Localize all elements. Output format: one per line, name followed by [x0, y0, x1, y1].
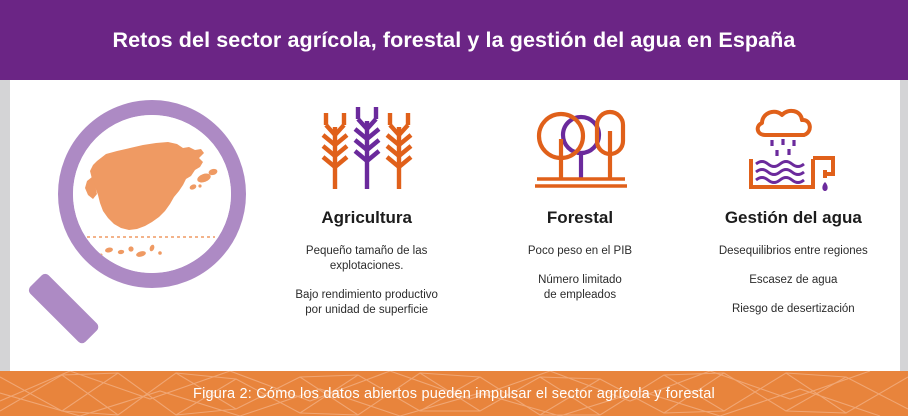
spain-map-icon [73, 115, 231, 273]
droplet-shape [823, 182, 828, 191]
magnifier-lens [73, 115, 231, 273]
water-tank-rain-icon [741, 102, 845, 194]
column-line: Número limitado de empleados [538, 273, 622, 303]
column-line: Escasez de agua [749, 273, 837, 288]
column-lines-gestion-del-agua: Desequilibrios entre regiones Escasez de… [719, 244, 868, 317]
column-agricultura: Agricultura Pequeño tamaño de las explot… [260, 80, 473, 371]
content-card: Agricultura Pequeño tamaño de las explot… [10, 80, 900, 371]
column-line: Desequilibrios entre regiones [719, 244, 868, 259]
magnifying-glass-icon [28, 90, 258, 355]
column-lines-agricultura: Pequeño tamaño de las explotaciones. Baj… [295, 244, 438, 318]
column-gestion-del-agua: Gestión del agua Desequilibrios entre re… [687, 80, 900, 371]
figure-caption: Figura 2: Cómo los datos abiertos pueden… [0, 371, 908, 416]
columns-container: Agricultura Pequeño tamaño de las explot… [260, 80, 900, 371]
column-title-gestion-del-agua: Gestión del agua [725, 208, 862, 228]
column-line: Bajo rendimiento productivo por unidad d… [295, 288, 438, 318]
page-title: Retos del sector agrícola, forestal y la… [113, 28, 796, 53]
infographic-page: Retos del sector agrícola, forestal y la… [0, 0, 908, 416]
column-lines-forestal: Poco peso en el PIB Número limitado de e… [528, 244, 632, 303]
magnifier-handle [27, 272, 101, 346]
cloud-shape [758, 111, 810, 135]
column-forestal: Forestal Poco peso en el PIB Número limi… [473, 80, 686, 371]
trees-icon [531, 102, 629, 194]
column-line: Riesgo de desertización [732, 302, 855, 317]
header-bar: Retos del sector agrícola, forestal y la… [0, 0, 908, 80]
column-line: Pequeño tamaño de las explotaciones. [306, 244, 427, 274]
footer-bar: Figura 2: Cómo los datos abiertos pueden… [0, 371, 908, 416]
column-line: Poco peso en el PIB [528, 244, 632, 259]
column-title-agricultura: Agricultura [321, 208, 412, 228]
wheat-icon [315, 102, 419, 194]
column-title-forestal: Forestal [547, 208, 613, 228]
